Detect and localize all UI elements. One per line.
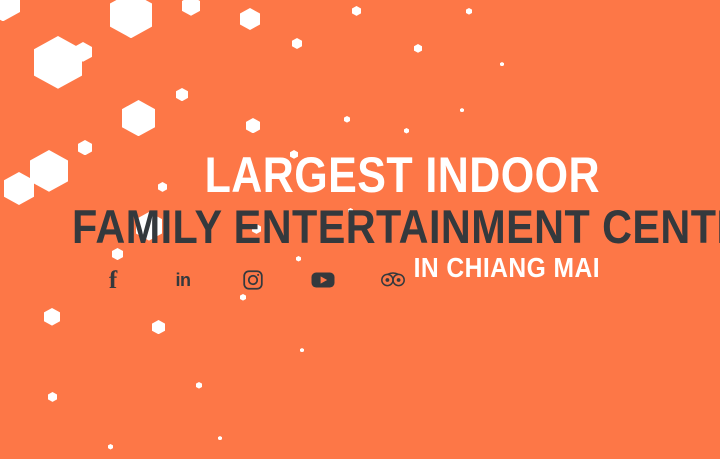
hexagon-shape <box>404 128 409 134</box>
headline-line-largest-indoor: LARGEST INDOOR <box>84 150 600 200</box>
hexagon-shape <box>466 8 472 15</box>
hexagon-shape <box>300 348 304 352</box>
hexagon-shape <box>246 118 260 133</box>
social-links-row: f in <box>100 268 406 292</box>
linkedin-icon[interactable]: in <box>170 268 196 292</box>
youtube-icon[interactable] <box>310 268 336 292</box>
hexagon-shape <box>0 0 20 21</box>
hexagon-shape <box>108 444 113 450</box>
facebook-icon[interactable]: f <box>100 268 126 292</box>
hexagon-shape <box>122 100 155 136</box>
hexagon-shape <box>344 116 350 123</box>
hexagon-shape <box>176 88 188 101</box>
hexagon-shape <box>218 436 222 440</box>
facebook-glyph: f <box>109 268 117 293</box>
hexagon-shape <box>152 320 165 334</box>
hexagon-shape <box>44 308 60 326</box>
headline-line-family-entertainment-center: FAMILY ENTERTAINMENT CENTER <box>72 203 600 250</box>
instagram-icon[interactable] <box>240 268 266 292</box>
headline-block: LARGEST INDOOR FAMILY ENTERTAINMENT CENT… <box>0 150 600 282</box>
hexagon-shape <box>74 42 92 62</box>
hexagon-shape <box>292 38 302 49</box>
hexagon-shape <box>352 6 361 16</box>
hexagon-shape <box>48 392 57 402</box>
linkedin-glyph: in <box>176 271 191 289</box>
hexagon-shape <box>182 0 200 16</box>
hexagon-shape <box>240 294 246 301</box>
tripadvisor-icon[interactable] <box>380 268 406 292</box>
hexagon-shape <box>240 8 260 30</box>
hexagon-shape <box>460 108 464 112</box>
hexagon-shape <box>500 62 504 66</box>
hexagon-shape <box>110 0 152 38</box>
hexagon-shape <box>414 44 422 53</box>
promo-banner: LARGEST INDOOR FAMILY ENTERTAINMENT CENT… <box>0 0 720 459</box>
hexagon-shape <box>196 382 202 389</box>
hexagon-shape <box>34 36 82 89</box>
